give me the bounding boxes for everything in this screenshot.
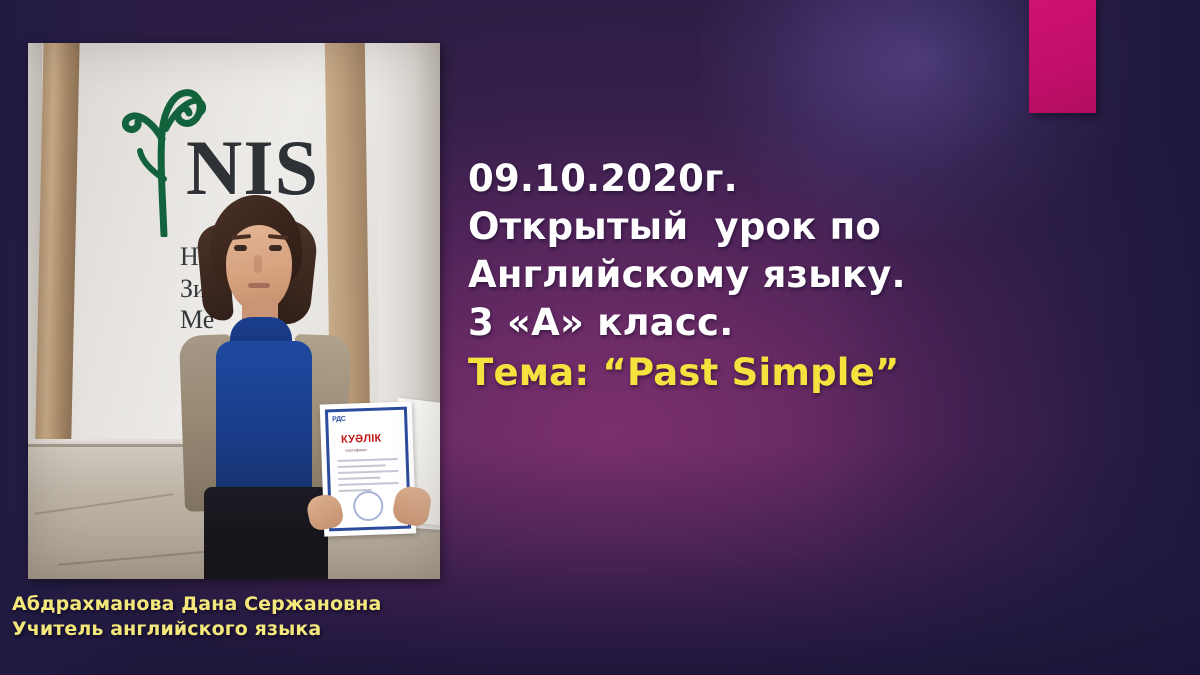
certificate-subtitle: сертификат bbox=[345, 447, 367, 453]
slide-text-block: 09.10.2020г. Открытый урок по Английском… bbox=[468, 155, 1168, 397]
lesson-class: 3 «А» класс. bbox=[468, 299, 1168, 347]
lesson-topic: Тема: “Past Simple” bbox=[468, 349, 1168, 397]
teacher-portrait-photo: NIS Назарб Зият Ме bbox=[28, 43, 440, 579]
certificate-issuer-logo: РДС bbox=[332, 416, 346, 423]
photo-person: РДС КУӘЛІК сертификат bbox=[180, 195, 390, 579]
certificate-title: КУӘЛІК bbox=[341, 433, 382, 446]
teacher-name: Абдрахманова Дана Сержановна bbox=[12, 592, 482, 617]
lesson-date: 09.10.2020г. bbox=[468, 155, 1168, 203]
lesson-title: Открытый урок по Английскому языку. bbox=[468, 203, 1168, 299]
teacher-caption: Абдрахманова Дана Сержановна Учитель анг… bbox=[12, 592, 482, 642]
teacher-role: Учитель английского языка bbox=[12, 617, 482, 642]
pink-accent-rectangle bbox=[1029, 0, 1096, 113]
presentation-slide: NIS Назарб Зият Ме bbox=[0, 0, 1200, 675]
